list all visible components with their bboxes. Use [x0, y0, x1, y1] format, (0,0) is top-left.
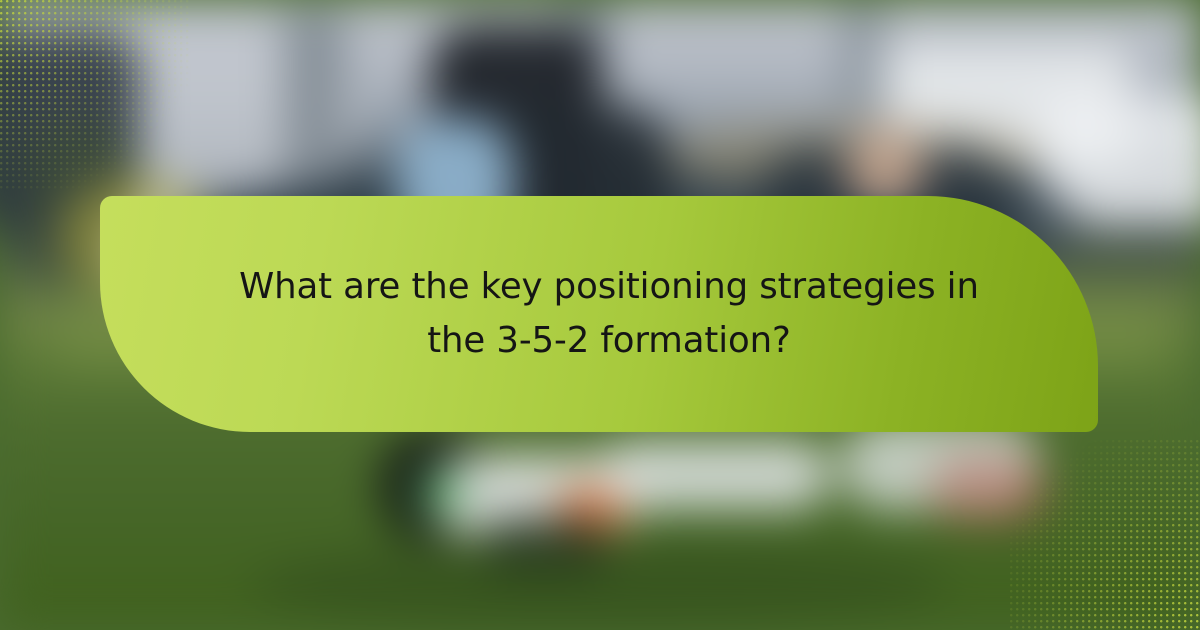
photo-blob-leg-white-2 [600, 440, 830, 510]
question-card: What are the key positioning strategies … [100, 196, 1098, 432]
photo-blob-sock-right [930, 455, 1050, 525]
photo-blob-boot-green [418, 472, 468, 512]
photo-blob-ground-shadow [250, 540, 950, 630]
question-title: What are the key positioning strategies … [214, 260, 1004, 368]
social-card-canvas: What are the key positioning strategies … [0, 0, 1200, 630]
